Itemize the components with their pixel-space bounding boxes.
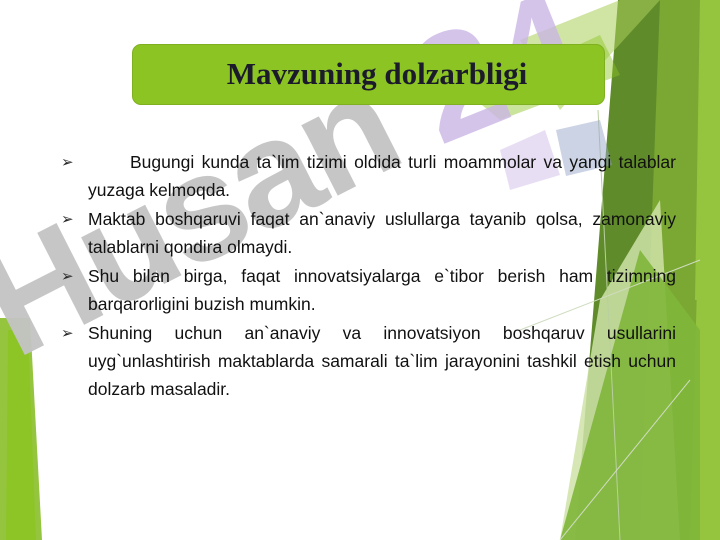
list-item-text: Maktab boshqaruvi faqat an`anaviy uslull…	[88, 205, 676, 261]
list-item: ➢ Shu bilan birga, faqat innovatsiyalarg…	[58, 262, 676, 318]
arrowhead-bullet-icon: ➢	[58, 205, 88, 233]
arrowhead-bullet-icon: ➢	[58, 319, 88, 347]
bullet-list: ➢ Bugungi kunda ta`lim tizimi oldida tur…	[58, 148, 676, 404]
arrowhead-bullet-icon: ➢	[58, 148, 88, 176]
slide-canvas: 24 Husan Mavzuning dolzarbligi ➢ Bugungi…	[0, 0, 720, 540]
list-item: ➢ Bugungi kunda ta`lim tizimi oldida tur…	[58, 148, 676, 204]
page-title: Mavzuning dolzarbligi	[142, 48, 612, 100]
list-item: ➢ Maktab boshqaruvi faqat an`anaviy uslu…	[58, 205, 676, 261]
list-item-text: Shuning uchun an`anaviy va innovatsiyon …	[88, 319, 676, 403]
arrowhead-bullet-icon: ➢	[58, 262, 88, 290]
list-item-text: Bugungi kunda ta`lim tizimi oldida turli…	[88, 148, 676, 204]
list-item: ➢ Shuning uchun an`anaviy va innovatsiyo…	[58, 319, 676, 403]
list-item-text: Shu bilan birga, faqat innovatsiyalarga …	[88, 262, 676, 318]
